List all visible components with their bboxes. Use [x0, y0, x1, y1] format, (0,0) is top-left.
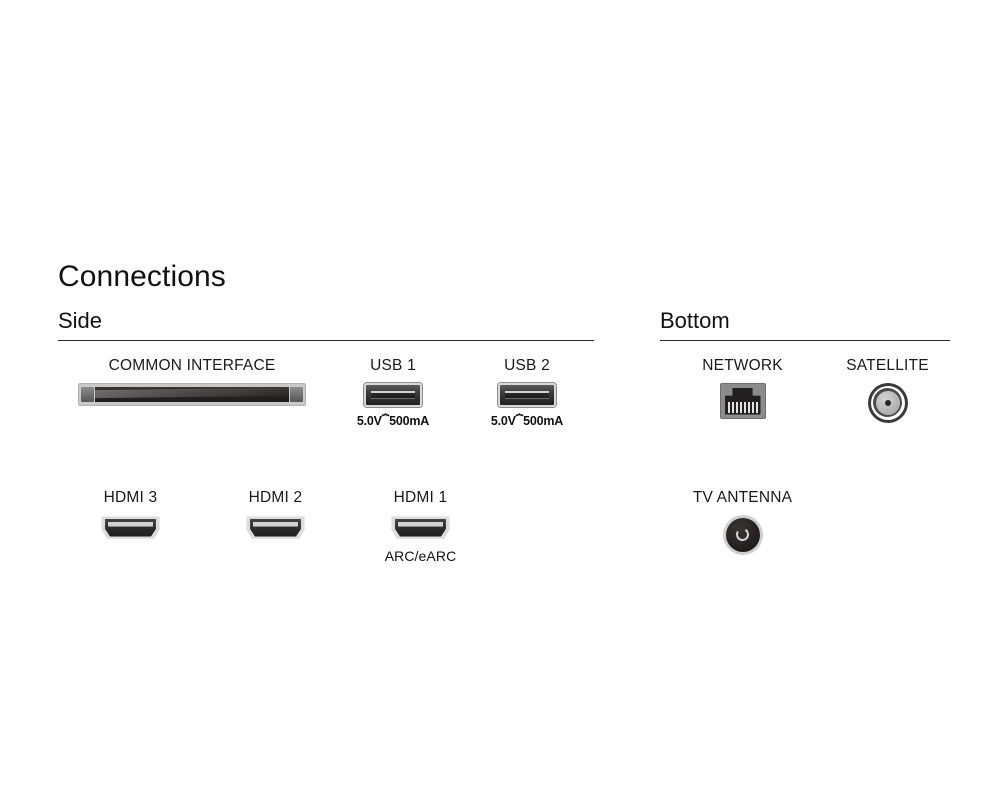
- port-network[interactable]: NETWORK: [660, 358, 825, 419]
- usb-a-port-icon[interactable]: [364, 383, 422, 407]
- port-label-usb-2: USB 2: [504, 358, 550, 374]
- coax-cavity-icon: [726, 518, 760, 552]
- port-hdmi-2[interactable]: HDMI 2: [203, 490, 348, 540]
- section-bottom: Bottom: [660, 310, 950, 341]
- port-sublabel-hdmi-1: ARC/eARC: [385, 549, 457, 563]
- port-hdmi-3[interactable]: HDMI 3: [58, 490, 203, 540]
- port-label-common-interface: COMMON INTERFACE: [109, 358, 276, 374]
- port-tv-antenna[interactable]: TV ANTENNA: [660, 490, 825, 555]
- port-usb-1[interactable]: USB 1 5.0V⏞500mA: [326, 358, 460, 427]
- usb-a-port-icon[interactable]: [498, 383, 556, 407]
- hdmi-contact-bar-icon: [253, 522, 298, 527]
- usb-contact-slot-icon: [505, 391, 549, 399]
- coax-antenna-connector-icon[interactable]: [723, 515, 763, 555]
- satellite-f-connector-icon[interactable]: [868, 383, 908, 423]
- coax-center-ring-icon: [735, 527, 750, 542]
- common-interface-slot-icon[interactable]: [78, 383, 306, 406]
- port-usb-2[interactable]: USB 2 5.0V⏞500mA: [460, 358, 594, 427]
- hdmi-port-icon[interactable]: [100, 515, 162, 540]
- hdmi-contact-bar-icon: [398, 522, 443, 527]
- ci-left-cap-icon: [81, 387, 94, 402]
- hdmi-contact-bar-icon: [108, 522, 153, 527]
- section-side-title: Side: [58, 310, 594, 340]
- satellite-center-pin-icon: [885, 400, 891, 406]
- port-label-hdmi-1: HDMI 1: [394, 490, 448, 506]
- section-side-divider: [58, 340, 594, 341]
- port-label-hdmi-2: HDMI 2: [249, 490, 303, 506]
- usb-contact-slot-icon: [371, 391, 415, 399]
- port-sublabel-usb-2: 5.0V⏞500mA: [491, 415, 563, 428]
- satellite-outer-ring-icon: [871, 386, 905, 420]
- page-title: Connections: [58, 262, 226, 292]
- port-label-tv-antenna: TV ANTENNA: [693, 490, 792, 506]
- ci-right-cap-icon: [290, 387, 303, 402]
- bottom-row-connectors-top: NETWORK SATELLITE: [660, 358, 950, 423]
- side-row-connectors-top: COMMON INTERFACE USB 1 5.0V⏞500mA USB 2 …: [58, 358, 594, 427]
- section-side: Side: [58, 310, 594, 341]
- section-bottom-divider: [660, 340, 950, 341]
- hdmi-port-icon[interactable]: [245, 515, 307, 540]
- port-label-usb-1: USB 1: [370, 358, 416, 374]
- port-sublabel-usb-1: 5.0V⏞500mA: [357, 415, 429, 428]
- bottom-row-connectors-bottom: TV ANTENNA: [660, 490, 825, 555]
- port-label-hdmi-3: HDMI 3: [104, 490, 158, 506]
- rj45-network-port-icon[interactable]: [720, 383, 766, 419]
- satellite-inner-disc-icon: [876, 391, 900, 415]
- satellite-mid-ring-icon: [873, 388, 902, 417]
- port-label-satellite: SATELLITE: [846, 358, 929, 374]
- port-satellite[interactable]: SATELLITE: [825, 358, 950, 423]
- port-hdmi-1[interactable]: HDMI 1 ARC/eARC: [348, 490, 493, 563]
- port-common-interface[interactable]: COMMON INTERFACE: [58, 358, 326, 406]
- ci-body-icon: [95, 387, 289, 402]
- port-label-network: NETWORK: [702, 358, 783, 374]
- side-row-connectors-bottom: HDMI 3 HDMI 2 HDMI 1 ARC/eARC: [58, 490, 594, 563]
- section-bottom-title: Bottom: [660, 310, 950, 340]
- hdmi-port-icon[interactable]: [390, 515, 452, 540]
- rj45-pins-icon: [728, 402, 758, 413]
